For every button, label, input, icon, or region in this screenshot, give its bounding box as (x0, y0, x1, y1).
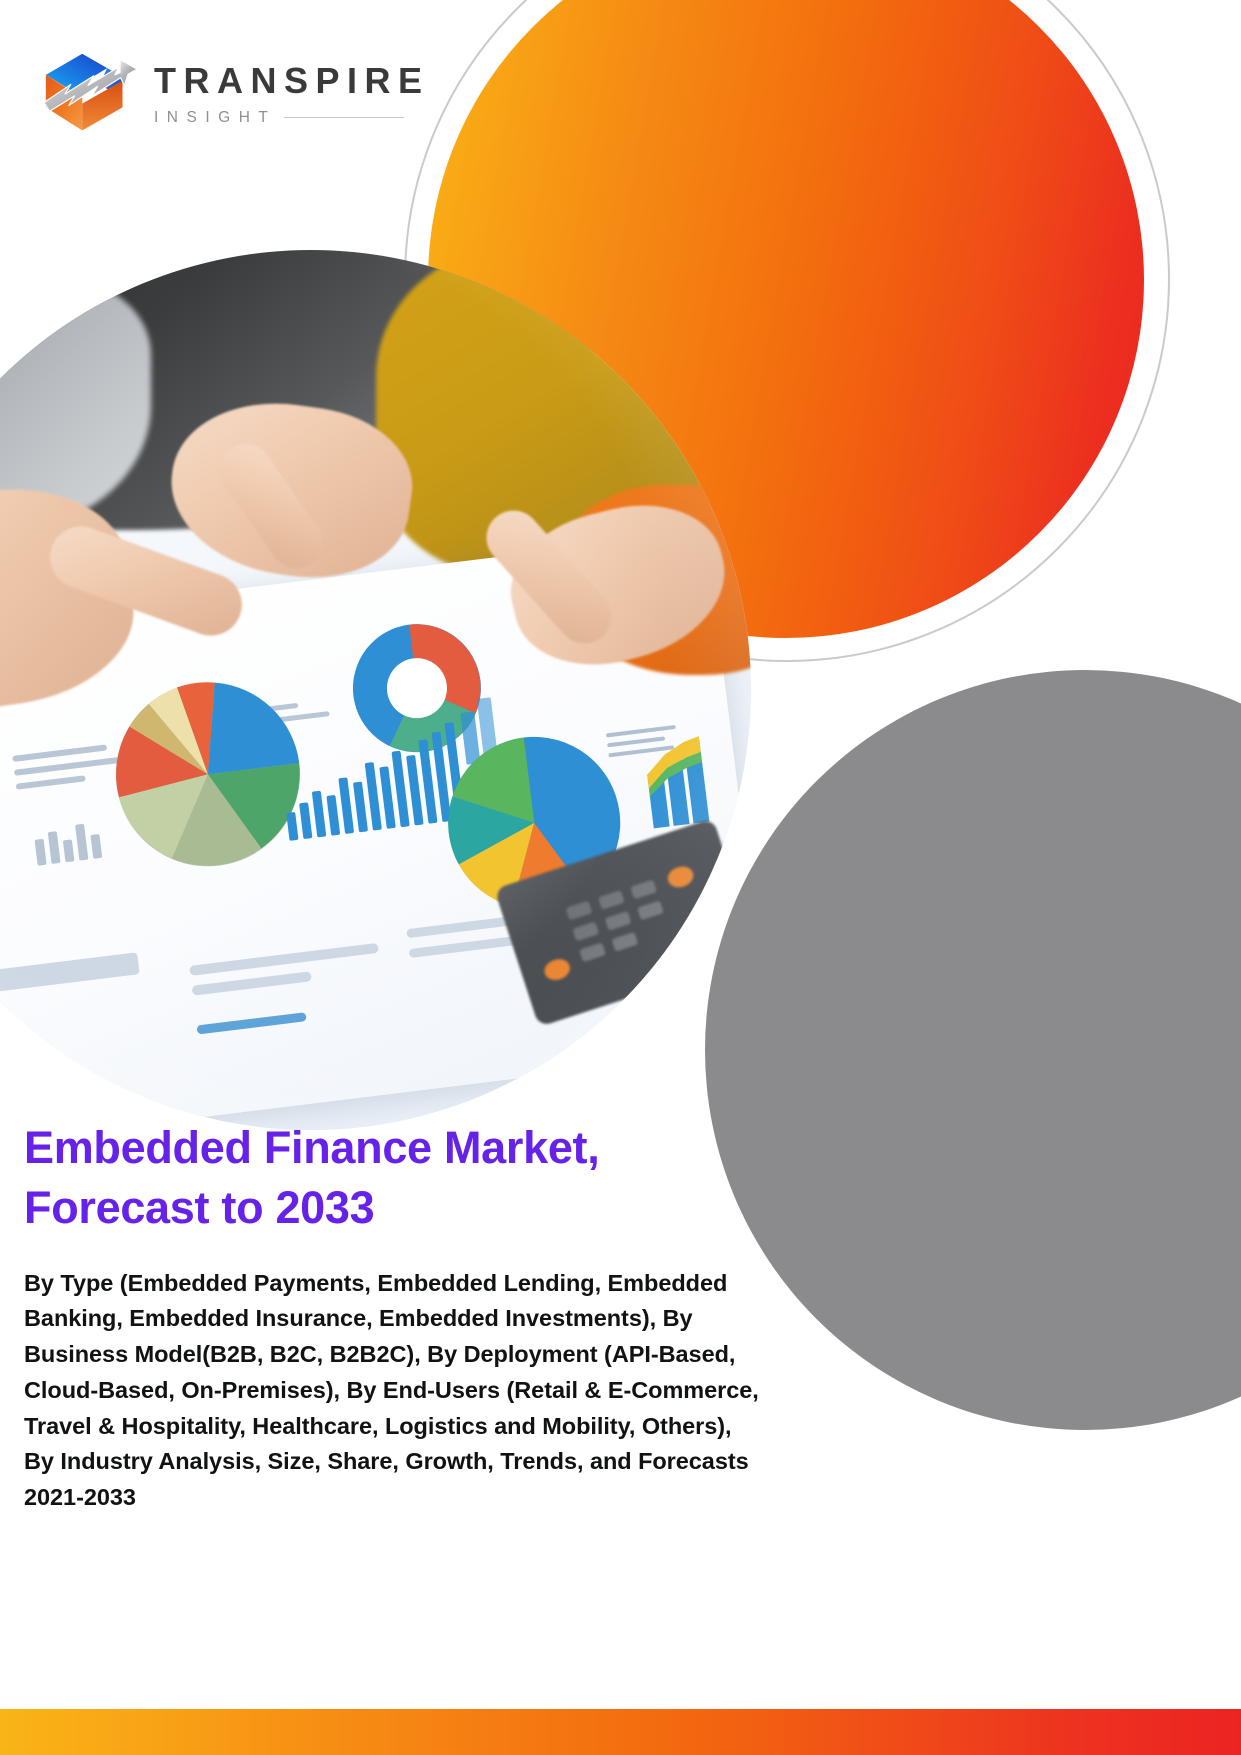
brand-logo: TRANSPIRE INSIGHT (40, 48, 430, 140)
report-cover-page: TRANSPIRE INSIGHT Embedded Finance Marke… (0, 0, 1241, 1755)
page-title-line-1: Embedded Finance Market, (24, 1118, 834, 1178)
brand-subwordmark-row: INSIGHT (154, 110, 430, 126)
page-subtitle-line-6: By Industry Analysis, Size, Share, Growt… (24, 1444, 834, 1480)
page-subtitle-line-2: Banking, Embedded Insurance, Embedded In… (24, 1301, 834, 1337)
brand-logo-text: TRANSPIRE INSIGHT (154, 63, 430, 126)
cover-text-block: Embedded Finance Market, Forecast to 203… (24, 1118, 834, 1516)
brand-subwordmark: INSIGHT (154, 110, 276, 126)
cover-photo (0, 250, 751, 1130)
page-subtitle-line-3: Business Model(B2B, B2C, B2B2C), By Depl… (24, 1337, 834, 1373)
page-subtitle-line-5: Travel & Hospitality, Healthcare, Logist… (24, 1409, 834, 1445)
cover-photo-scene (0, 250, 751, 1130)
bottom-gradient-bar (0, 1709, 1241, 1755)
brand-rule-divider (284, 117, 404, 118)
photo-vignette (0, 250, 751, 1130)
page-subtitle: By Type (Embedded Payments, Embedded Len… (24, 1266, 834, 1516)
page-title-line-2: Forecast to 2033 (24, 1178, 834, 1238)
brand-wordmark: TRANSPIRE (154, 63, 430, 99)
page-subtitle-line-1: By Type (Embedded Payments, Embedded Len… (24, 1266, 834, 1302)
transpire-hex-arrow-logo-icon (40, 48, 136, 140)
page-title: Embedded Finance Market, Forecast to 203… (24, 1118, 834, 1238)
page-subtitle-line-7: 2021-2033 (24, 1480, 834, 1516)
page-subtitle-line-4: Cloud-Based, On-Premises), By End-Users … (24, 1373, 834, 1409)
